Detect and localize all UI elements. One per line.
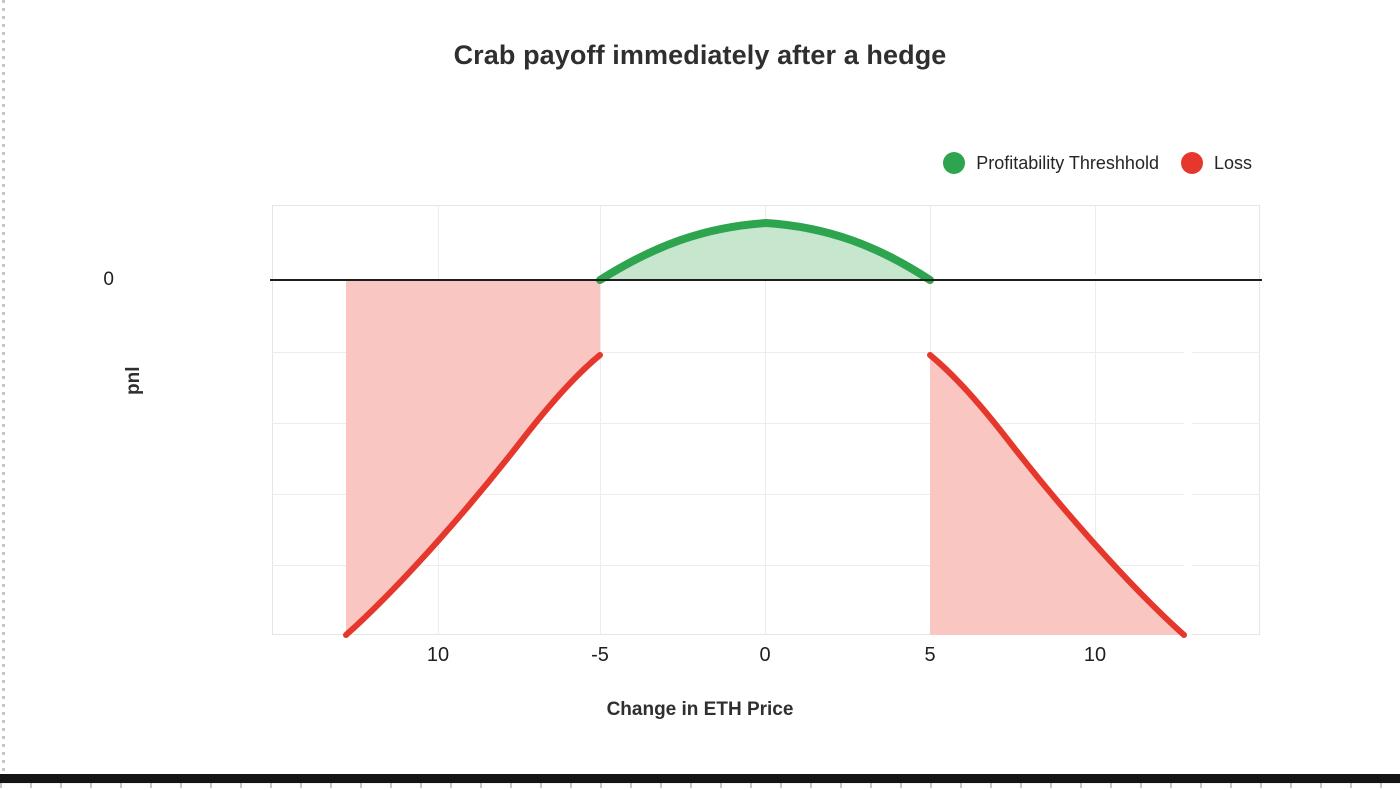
plot-area: [272, 205, 1260, 635]
legend-item-profitability-threshhold[interactable]: Profitability Threshhold: [943, 152, 1159, 174]
x-tick-label-3: 5: [924, 644, 935, 667]
loss-area-fill-left: [346, 280, 600, 635]
x-tick-label-2: 0: [759, 644, 770, 667]
payoff-curves: [272, 205, 1260, 635]
screenshot-root: Crab payoff immediately after a hedge Pr…: [0, 0, 1400, 790]
chart-title: Crab payoff immediately after a hedge: [0, 40, 1400, 71]
chart-figure: Crab payoff immediately after a hedge Pr…: [0, 0, 1400, 772]
legend-swatch-green-circle-icon: [943, 152, 965, 174]
legend-label-profitability-threshhold: Profitability Threshhold: [976, 153, 1159, 174]
x-axis-title: Change in ETH Price: [0, 699, 1400, 721]
zero-axis-line: [270, 279, 1262, 281]
y-axis-title: pnl: [123, 367, 145, 396]
chart-legend: Profitability Threshhold Loss: [943, 152, 1252, 174]
bottom-ruler-ticks: [0, 783, 1400, 788]
bottom-dark-bar: [0, 774, 1400, 783]
x-tick-label-0: 10: [427, 644, 449, 667]
legend-label-loss: Loss: [1214, 153, 1252, 174]
y-tick-label-0: 0: [103, 269, 114, 291]
x-tick-label-4: 10: [1084, 644, 1106, 667]
legend-item-loss[interactable]: Loss: [1181, 152, 1252, 174]
x-tick-label-1: -5: [591, 644, 609, 667]
legend-swatch-red-circle-icon: [1181, 152, 1203, 174]
